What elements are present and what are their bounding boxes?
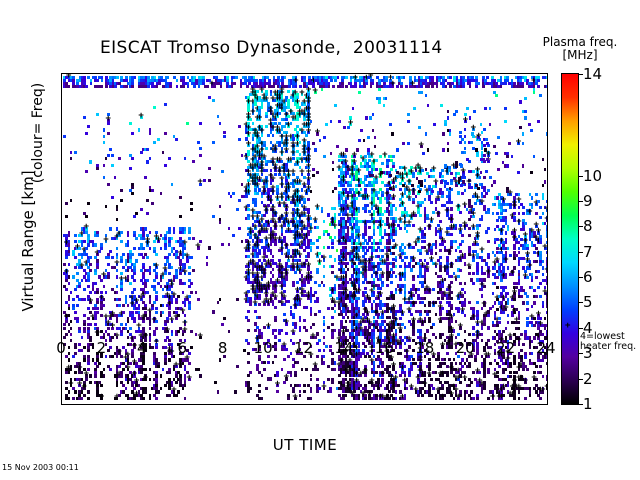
heatmap-cell xyxy=(364,233,367,236)
heater-echo-marker: + xyxy=(321,384,326,391)
heatmap-cell xyxy=(323,361,326,364)
heatmap-cell xyxy=(151,307,154,310)
heatmap-cell xyxy=(131,253,134,256)
heatmap-cell xyxy=(314,313,317,316)
heatmap-cell xyxy=(89,291,92,294)
heatmap-cell xyxy=(392,76,395,79)
heatmap-cell xyxy=(381,284,384,287)
heatmap-cell xyxy=(329,255,332,258)
heatmap-cell xyxy=(87,368,90,371)
heatmap-cell xyxy=(168,253,171,256)
heatmap-cell xyxy=(83,330,86,333)
heatmap-cell xyxy=(321,210,324,213)
heatmap-cell xyxy=(314,291,317,294)
heatmap-cell xyxy=(116,208,119,211)
heatmap-cell xyxy=(288,85,291,88)
heatmap-cell xyxy=(419,252,422,255)
heatmap-cell xyxy=(85,247,88,250)
heatmap-cell xyxy=(395,397,398,400)
heatmap-cell xyxy=(111,196,114,199)
heatmap-cell xyxy=(223,135,226,138)
heatmap-cell xyxy=(109,227,112,230)
heatmap-cell xyxy=(87,349,90,352)
heatmap-cell xyxy=(192,160,195,163)
heater-echo-marker: + xyxy=(103,237,108,244)
heatmap-cell xyxy=(334,79,337,82)
heatmap-cell xyxy=(68,85,71,88)
heatmap-cell xyxy=(133,279,136,282)
heatmap-cell xyxy=(74,151,77,154)
heatmap-cell xyxy=(162,151,165,154)
heatmap-cell xyxy=(175,301,178,304)
heatmap-cell xyxy=(261,374,264,377)
heater-echo-marker: + xyxy=(154,263,159,270)
heatmap-cell xyxy=(96,365,99,368)
heatmap-cell xyxy=(142,362,145,365)
heatmap-cell xyxy=(149,368,152,371)
heatmap-cell xyxy=(358,210,361,213)
heatmap-cell xyxy=(78,343,81,346)
heatmap-cell xyxy=(381,162,384,165)
heatmap-cell xyxy=(96,266,99,269)
heatmap-cell xyxy=(203,179,206,182)
heatmap-cell xyxy=(332,85,335,88)
heatmap-cell xyxy=(263,368,266,371)
heatmap-cell xyxy=(254,204,257,207)
heatmap-cell xyxy=(90,82,93,85)
heatmap-cell xyxy=(85,215,88,218)
heatmap-cell xyxy=(314,336,317,339)
heatmap-cell xyxy=(107,122,110,125)
heatmap-cell xyxy=(208,179,211,182)
heater-echo-marker: + xyxy=(393,243,398,250)
heatmap-cell xyxy=(310,390,313,393)
heater-echo-marker: + xyxy=(284,147,289,154)
heatmap-cell xyxy=(118,157,121,160)
heatmap-cell xyxy=(100,384,103,387)
heatmap-cell xyxy=(373,233,376,236)
heatmap-cell xyxy=(217,390,220,393)
heatmap-cell xyxy=(392,155,395,158)
heatmap-cell xyxy=(546,85,548,88)
heatmap-cell xyxy=(316,226,319,229)
heater-echo-marker: + xyxy=(390,81,395,88)
heatmap-cell xyxy=(89,256,92,259)
heatmap-cell xyxy=(94,272,97,275)
heatmap-cell xyxy=(199,374,202,377)
heatmap-cell xyxy=(158,82,161,85)
heatmap-cell xyxy=(188,362,191,365)
heatmap-cell xyxy=(116,269,119,272)
heatmap-cell xyxy=(436,85,439,88)
heatmap-cell xyxy=(381,236,384,239)
heatmap-cell xyxy=(186,259,189,262)
heatmap-cell xyxy=(307,198,310,201)
heatmap-cell xyxy=(482,85,485,88)
heatmap-cell xyxy=(238,138,241,141)
heatmap-cell xyxy=(63,135,66,138)
heatmap-cell xyxy=(87,285,90,288)
heatmap-cell xyxy=(299,384,302,387)
heater-echo-marker: + xyxy=(272,294,277,301)
heatmap-cell xyxy=(155,327,158,330)
heater-echo-marker: + xyxy=(293,394,298,401)
heater-echo-marker: + xyxy=(391,194,396,201)
heatmap-cell xyxy=(164,362,167,365)
heatmap-cell xyxy=(265,163,268,166)
heatmap-cell xyxy=(327,378,330,381)
heatmap-cell xyxy=(78,330,81,333)
heatmap-cell xyxy=(133,272,136,275)
heatmap-cell xyxy=(98,362,101,365)
heatmap-cell xyxy=(68,263,71,266)
heatmap-cell xyxy=(68,234,71,237)
heatmap-cell xyxy=(146,279,149,282)
heatmap-cell xyxy=(316,368,319,371)
heatmap-cell xyxy=(155,346,158,349)
heatmap-cell xyxy=(188,285,191,288)
heatmap-cell xyxy=(116,218,119,221)
heatmap-cell xyxy=(157,138,160,141)
heatmap-cell xyxy=(405,85,408,88)
heatmap-cell xyxy=(469,85,472,88)
heatmap-cell xyxy=(323,246,326,249)
heatmap-cell xyxy=(323,233,326,236)
heater-echo-marker: + xyxy=(114,260,119,267)
heater-echo-marker: + xyxy=(187,375,192,382)
heatmap-cell xyxy=(160,314,163,317)
heatmap-cell xyxy=(392,165,395,168)
heatmap-cell xyxy=(105,291,108,294)
heatmap-cell xyxy=(68,253,71,256)
heatmap-cell xyxy=(316,342,319,345)
heatmap-cell xyxy=(177,295,180,298)
heatmap-cell xyxy=(395,185,398,188)
heatmap-cell xyxy=(175,394,178,397)
heatmap-cell xyxy=(334,291,337,294)
heatmap-cell xyxy=(379,200,382,203)
heatmap-cell xyxy=(190,256,193,259)
heatmap-cell xyxy=(127,381,130,384)
heatmap-cell xyxy=(65,256,68,259)
heatmap-cell xyxy=(328,85,331,88)
heatmap-cell xyxy=(294,326,297,329)
heatmap-cell xyxy=(187,85,190,88)
heatmap-cell xyxy=(408,345,411,348)
heatmap-cell xyxy=(318,339,321,342)
heatmap-cell xyxy=(111,164,114,167)
heater-echo-marker: + xyxy=(81,384,86,391)
heatmap-cell xyxy=(397,384,400,387)
heatmap-cell xyxy=(284,76,287,79)
heatmap-cell xyxy=(292,316,295,319)
heatmap-cell xyxy=(68,358,71,361)
heatmap-cell xyxy=(177,390,180,393)
heatmap-cell xyxy=(74,346,77,349)
heatmap-cell xyxy=(87,279,90,282)
heater-echo-marker: + xyxy=(156,237,161,244)
heatmap-cell xyxy=(399,345,402,348)
heatmap-cell xyxy=(193,85,196,88)
heatmap-cell xyxy=(63,327,66,330)
heatmap-cell xyxy=(89,374,92,377)
heater-echo-marker: + xyxy=(169,282,174,289)
heatmap-cell xyxy=(177,330,180,333)
heatmap-cell xyxy=(419,214,422,217)
heatmap-cell xyxy=(258,390,261,393)
heatmap-cell xyxy=(184,231,187,234)
heatmap-cell xyxy=(258,384,261,387)
heatmap-cell xyxy=(72,298,75,301)
heatmap-cell xyxy=(236,208,239,211)
heatmap-cell xyxy=(125,387,128,390)
heatmap-cell xyxy=(68,298,71,301)
heatmap-cell xyxy=(206,256,209,259)
heatmap-cell xyxy=(70,151,73,154)
heatmap-cell xyxy=(133,288,136,291)
heatmap-cell xyxy=(214,381,217,384)
heatmap-cell xyxy=(184,282,187,285)
heatmap-cell xyxy=(316,271,319,274)
heatmap-cell xyxy=(122,311,125,314)
heatmap-cell xyxy=(327,307,330,310)
heater-echo-marker: + xyxy=(284,319,289,326)
heatmap-cell xyxy=(70,333,73,336)
heatmap-cell xyxy=(386,165,389,168)
heatmap-cell xyxy=(316,355,319,358)
heatmap-cell xyxy=(103,164,106,167)
heatmap-cell xyxy=(412,278,415,281)
plot-title: EISCAT Tromso Dynasonde, 20031114 xyxy=(100,38,530,58)
heatmap-cell xyxy=(299,329,302,332)
heatmap-cell xyxy=(153,301,156,304)
heatmap-cell xyxy=(131,186,134,189)
heater-echo-marker: + xyxy=(400,310,405,317)
heatmap-cell xyxy=(140,208,143,211)
heatmap-cell xyxy=(92,346,95,349)
heatmap-cell xyxy=(173,231,176,234)
heatmap-cell xyxy=(310,300,313,303)
heatmap-cell xyxy=(305,329,308,332)
heatmap-cell xyxy=(125,85,128,88)
heatmap-cell xyxy=(168,371,171,374)
heatmap-cell xyxy=(358,358,361,361)
heatmap-cell xyxy=(103,285,106,288)
heatmap-cell xyxy=(68,282,71,285)
heatmap-cell xyxy=(283,358,286,361)
heatmap-cell xyxy=(81,349,84,352)
heater-echo-marker: + xyxy=(293,303,298,310)
heatmap-cell xyxy=(417,394,420,397)
heatmap-cell xyxy=(292,364,295,367)
heatmap-cell xyxy=(316,378,319,381)
heatmap-cell xyxy=(133,336,136,339)
heatmap-cell xyxy=(318,284,321,287)
heatmap-cell xyxy=(74,390,77,393)
heatmap-cell xyxy=(103,176,106,179)
heater-echo-marker: + xyxy=(397,326,402,333)
heater-echo-marker: + xyxy=(266,323,271,330)
heatmap-cell xyxy=(323,284,326,287)
heatmap-cell xyxy=(160,247,163,250)
heatmap-cell xyxy=(120,189,123,192)
heatmap-cell xyxy=(232,192,235,195)
heatmap-cell xyxy=(192,269,195,272)
heatmap-cell xyxy=(188,231,191,234)
heatmap-cell xyxy=(146,160,149,163)
heatmap-cell xyxy=(445,85,448,88)
heatmap-cell xyxy=(305,368,308,371)
heatmap-cell xyxy=(133,215,136,218)
heatmap-cell xyxy=(149,327,152,330)
heatmap-cell xyxy=(105,205,108,208)
heatmap-cell xyxy=(120,240,123,243)
heatmap-cell xyxy=(72,397,75,400)
heatmap-cell xyxy=(318,236,321,239)
heatmap-cell xyxy=(83,116,86,119)
heatmap-cell xyxy=(314,281,317,284)
heater-echo-marker: + xyxy=(195,243,200,250)
heatmap-cell xyxy=(120,199,123,202)
heatmap-cell xyxy=(74,311,77,314)
heatmap-cell xyxy=(129,122,132,125)
heatmap-cell xyxy=(381,381,384,384)
heatmap-cell xyxy=(89,263,92,266)
dynasonde-plot-figure: EISCAT Tromso Dynasonde, 20031114 Virtua… xyxy=(0,0,640,480)
heatmap-cell xyxy=(144,227,147,230)
heatmap-cell xyxy=(164,103,167,106)
heatmap-cell xyxy=(171,237,174,240)
heatmap-cell xyxy=(341,85,344,88)
heatmap-cell xyxy=(179,196,182,199)
heatmap-cell xyxy=(238,125,241,128)
heatmap-cell xyxy=(236,298,239,301)
heatmap-cell xyxy=(120,288,123,291)
heatmap-cell xyxy=(169,85,172,88)
heatmap-cell xyxy=(120,231,123,234)
heatmap-cell xyxy=(144,390,147,393)
heatmap-cell xyxy=(83,298,86,301)
heatmap-cell xyxy=(70,339,73,342)
heatmap-cell xyxy=(403,76,406,79)
heatmap-cell xyxy=(219,298,222,301)
heatmap-cell xyxy=(134,76,137,79)
heatmap-cell xyxy=(334,310,337,313)
heatmap-cell xyxy=(120,333,123,336)
heatmap-cell xyxy=(373,374,376,377)
heatmap-cell xyxy=(276,374,279,377)
heater-echo-marker: + xyxy=(284,374,289,381)
heatmap-cell xyxy=(247,310,250,313)
heatmap-cell xyxy=(111,355,114,358)
heatmap-cell xyxy=(249,371,252,374)
heatmap-cell xyxy=(138,128,141,131)
heatmap-cell xyxy=(190,282,193,285)
heatmap-cell xyxy=(96,79,99,82)
heatmap-cell xyxy=(83,240,86,243)
heatmap-cell xyxy=(155,275,158,278)
heatmap-cell xyxy=(81,336,84,339)
heatmap-cell xyxy=(192,237,195,240)
heatmap-cell xyxy=(116,291,119,294)
heatmap-cell xyxy=(303,319,306,322)
heatmap-cell xyxy=(171,183,174,186)
heatmap-cell xyxy=(342,397,345,400)
heatmap-cell xyxy=(412,224,415,227)
heatmap-cell xyxy=(363,85,366,88)
heatmap-cell xyxy=(116,285,119,288)
heatmap-cell xyxy=(287,397,290,400)
heatmap-cell xyxy=(68,314,71,317)
heatmap-cell xyxy=(377,191,380,194)
heatmap-cell xyxy=(281,329,284,332)
heatmap-cell xyxy=(120,259,123,262)
heatmap-cell xyxy=(83,358,86,361)
heatmap-cell xyxy=(74,288,77,291)
heatmap-cell xyxy=(323,355,326,358)
heatmap-cell xyxy=(334,329,337,332)
heatmap-cell xyxy=(449,85,452,88)
heater-echo-marker: + xyxy=(332,223,337,230)
heatmap-cell xyxy=(107,263,110,266)
heatmap-cell xyxy=(392,204,395,207)
heatmap-cell xyxy=(83,314,86,317)
heatmap-cell xyxy=(103,368,106,371)
heatmap-cell xyxy=(299,319,302,322)
heatmap-cell xyxy=(70,291,73,294)
heatmap-cell xyxy=(197,141,200,144)
heatmap-cell xyxy=(247,319,250,322)
heatmap-cell xyxy=(410,368,413,371)
heatmap-cell xyxy=(85,85,88,88)
heater-echo-marker: + xyxy=(99,394,104,401)
heatmap-cell xyxy=(116,247,119,250)
heatmap-cell xyxy=(303,249,306,252)
heatmap-cell xyxy=(375,249,378,252)
heatmap-cell xyxy=(247,342,250,345)
heatmap-cell xyxy=(149,247,152,250)
heatmap-cell xyxy=(111,154,114,157)
heatmap-cell xyxy=(146,256,149,259)
heatmap-cell xyxy=(419,204,422,207)
heater-echo-marker: + xyxy=(312,217,317,224)
heatmap-cell xyxy=(228,330,231,333)
heatmap-cell xyxy=(175,138,178,141)
heatmap-cell xyxy=(164,339,167,342)
heatmap-cell xyxy=(329,390,332,393)
heatmap-cell xyxy=(129,167,132,170)
heatmap-cell xyxy=(285,332,288,335)
heatmap-cell xyxy=(107,154,110,157)
heatmap-cell xyxy=(118,365,121,368)
heatmap-cell xyxy=(283,303,286,306)
heatmap-cell xyxy=(65,288,68,291)
heatmap-cell xyxy=(267,361,270,364)
heatmap-cell xyxy=(176,85,179,88)
heatmap-cell xyxy=(310,397,313,400)
heatmap-cell xyxy=(208,96,211,99)
heatmap-cell xyxy=(176,79,179,82)
heatmap-cell xyxy=(537,79,540,82)
heatmap-cell xyxy=(118,394,121,397)
heatmap-cell xyxy=(220,85,223,88)
heater-echo-marker: + xyxy=(272,147,277,154)
heatmap-cell xyxy=(175,275,178,278)
heatmap-cell xyxy=(149,157,152,160)
heatmap-cell xyxy=(149,397,152,400)
heatmap-cell xyxy=(76,320,79,323)
heatmap-cell xyxy=(212,310,215,313)
